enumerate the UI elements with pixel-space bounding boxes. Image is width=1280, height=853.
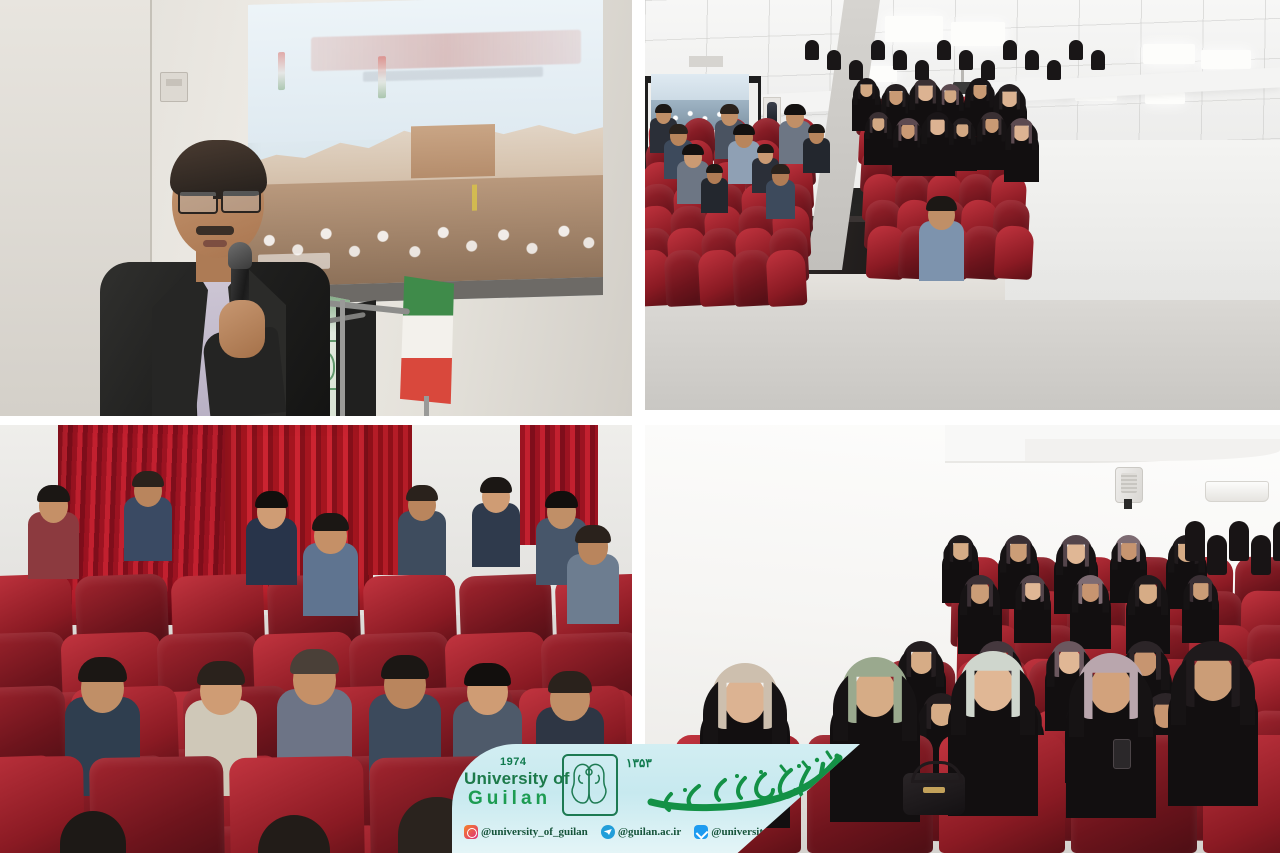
slide-yellow-banner (472, 185, 477, 211)
attendee (1165, 641, 1261, 806)
attendee-hair (197, 661, 245, 685)
attendee-hair (706, 164, 724, 173)
speaker-hand (219, 300, 265, 358)
attendee-hair (548, 671, 593, 693)
light-switch-icon (160, 72, 188, 102)
projection-screen (248, 0, 603, 305)
attendee-silhouette (849, 60, 863, 80)
ceiling-light-panel (1201, 50, 1251, 69)
speaker-glasses-right-lens (221, 189, 261, 213)
ceiling-light-panel (1143, 44, 1195, 64)
attendee-hair (545, 491, 579, 508)
attendee (560, 525, 626, 624)
attendee (913, 196, 950, 270)
attendee-hair (575, 525, 610, 543)
attendee-hair (464, 663, 510, 686)
ceiling-vent (689, 56, 723, 67)
attendee-silhouette (915, 60, 929, 80)
attendee (1181, 575, 1221, 643)
attendee-hair (784, 104, 805, 115)
attendee-hair (381, 655, 429, 679)
microphone-head-icon (228, 242, 252, 269)
attendee-hair (808, 124, 826, 133)
iranian-flag (400, 276, 454, 404)
founding-year-gregorian: 1974 (500, 756, 526, 768)
attendee-silhouette (1273, 521, 1280, 561)
air-conditioner-icon (1205, 481, 1269, 502)
instagram-handle: @university_of_guilan (481, 826, 588, 838)
university-emblem-icon (562, 754, 618, 816)
attendee-silhouette (827, 50, 841, 70)
hall-floor (645, 300, 1280, 410)
attendee (1069, 575, 1112, 649)
attendee-hair (757, 144, 775, 153)
social-telegram[interactable]: @guilan.ac.ir (601, 825, 681, 839)
attendee-silhouette (1229, 521, 1249, 561)
ceiling-light-panel (885, 16, 943, 42)
attendee-hair (480, 477, 512, 493)
photo-top-left-speaker (0, 0, 632, 416)
attendee-hair (655, 104, 673, 113)
attendee-hair (255, 491, 289, 508)
attendee-hair (771, 164, 791, 174)
attendee (863, 112, 894, 165)
attendee (22, 485, 85, 580)
attendee-hair (132, 471, 164, 487)
speaker-mouth (203, 240, 227, 247)
attendee (392, 485, 452, 575)
attendee-silhouette (893, 50, 907, 70)
telegram-icon (601, 825, 615, 839)
telegram-handle: @guilan.ac.ir (618, 826, 681, 838)
attendee-hair (720, 104, 740, 114)
slide-flag-1 (278, 52, 285, 90)
attendee-silhouette (1207, 535, 1227, 575)
attendee-silhouette (1251, 535, 1271, 575)
speaker-moustache (196, 226, 234, 235)
speaker-bracket (1124, 499, 1132, 509)
attendee-hair (78, 657, 128, 682)
attendee-hair (37, 485, 71, 502)
flag-pole (340, 300, 345, 416)
attendee (466, 477, 526, 567)
attendee-hair (669, 124, 689, 134)
flag-pole-2 (424, 396, 429, 416)
attendee-hair (290, 649, 340, 674)
attendee (947, 118, 950, 171)
ceiling-light-panel (951, 22, 1005, 46)
attendee (240, 491, 303, 586)
speaker-glasses-left-lens (178, 190, 218, 214)
attendee (1013, 575, 1053, 643)
social-instagram[interactable]: @university_of_guilan (464, 825, 588, 839)
wall-speaker-icon (1115, 467, 1143, 503)
photo-top-right-auditorium (645, 0, 1280, 410)
university-name-line2: Guilan (468, 788, 551, 810)
attendee (296, 513, 365, 617)
attendee (800, 124, 833, 174)
mobile-phone (1113, 739, 1131, 769)
attendee-chador-edge (949, 121, 950, 145)
photo-collage: 1974 ۱۳۵۳ University of Guilan (0, 0, 1280, 853)
attendee-hair (733, 124, 754, 135)
attendee (118, 471, 178, 561)
attendee-silhouette (805, 40, 819, 60)
attendee (1063, 653, 1159, 818)
attendee-silhouette (871, 40, 885, 60)
attendee-silhouette (1185, 521, 1205, 561)
instagram-icon (464, 825, 478, 839)
ceiling-soffit-inner (1025, 439, 1280, 461)
attendee (762, 164, 799, 219)
slide-flag-2 (378, 56, 386, 98)
attendee-hair (926, 196, 950, 211)
twitter-icon (694, 825, 708, 839)
attendee-hair (682, 144, 703, 155)
attendee-silhouette (937, 40, 950, 60)
speaker-glasses-bridge (213, 196, 223, 199)
attendee-hair (406, 485, 438, 501)
attendee-hair (312, 513, 349, 531)
university-name-line1: University of (464, 769, 570, 789)
handbag-clasp (923, 787, 945, 793)
attendee (919, 112, 950, 176)
slide-building (411, 124, 495, 178)
